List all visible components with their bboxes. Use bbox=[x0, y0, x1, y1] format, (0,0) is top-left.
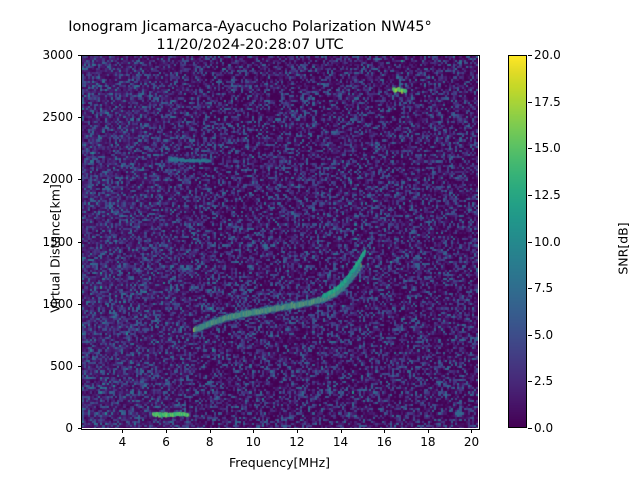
colorbar-tick-mark bbox=[528, 428, 532, 429]
colorbar-tick-label: 5.0 bbox=[534, 328, 553, 342]
colorbar-tick-label: 20.0 bbox=[534, 48, 561, 62]
y-tick-label: 3000 bbox=[0, 48, 73, 62]
x-tick-mark bbox=[166, 429, 167, 433]
x-tick-mark bbox=[297, 429, 298, 433]
x-tick-mark bbox=[471, 429, 472, 433]
colorbar-tick-label: 10.0 bbox=[534, 235, 561, 249]
x-tick-label: 16 bbox=[377, 435, 392, 449]
colorbar-tick-label: 15.0 bbox=[534, 141, 561, 155]
x-tick-label: 12 bbox=[289, 435, 304, 449]
x-tick-label: 4 bbox=[119, 435, 127, 449]
colorbar-tick-mark bbox=[528, 242, 532, 243]
colorbar-tick-label: 0.0 bbox=[534, 421, 553, 435]
ionogram-figure: Ionogram Jicamarca-Ayacucho Polarization… bbox=[0, 0, 640, 480]
y-tick-mark bbox=[78, 117, 82, 118]
colorbar-tick-label: 17.5 bbox=[534, 95, 561, 109]
figure-title: Ionogram Jicamarca-Ayacucho Polarization… bbox=[0, 18, 500, 54]
x-tick-label: 20 bbox=[464, 435, 479, 449]
x-tick-mark bbox=[428, 429, 429, 433]
title-line-2: 11/20/2024-20:28:07 UTC bbox=[156, 37, 343, 53]
colorbar-tick-mark bbox=[528, 148, 532, 149]
y-tick-mark bbox=[78, 179, 82, 180]
colorbar-tick-mark bbox=[528, 55, 532, 56]
y-tick-mark bbox=[78, 366, 82, 367]
x-tick-mark bbox=[210, 429, 211, 433]
y-axis-label: Virtual Distance[km] bbox=[48, 129, 63, 369]
colorbar-tick-mark bbox=[528, 102, 532, 103]
y-tick-mark bbox=[78, 428, 82, 429]
y-tick-label: 2500 bbox=[0, 110, 73, 124]
x-tick-label: 8 bbox=[206, 435, 214, 449]
title-line-1: Ionogram Jicamarca-Ayacucho Polarization… bbox=[68, 19, 432, 35]
x-tick-label: 10 bbox=[246, 435, 261, 449]
colorbar-tick-label: 2.5 bbox=[534, 374, 553, 388]
y-tick-label: 0 bbox=[0, 421, 73, 435]
colorbar-tick-mark bbox=[528, 195, 532, 196]
colorbar-tick-label: 7.5 bbox=[534, 281, 553, 295]
y-tick-mark bbox=[78, 242, 82, 243]
y-tick-mark bbox=[78, 304, 82, 305]
x-tick-label: 14 bbox=[333, 435, 348, 449]
x-tick-mark bbox=[384, 429, 385, 433]
x-tick-mark bbox=[122, 429, 123, 433]
echo-trace-layer bbox=[81, 55, 478, 428]
colorbar-tick-mark bbox=[528, 335, 532, 336]
colorbar-label: SNR[dB] bbox=[616, 129, 631, 369]
x-axis-label: Frequency[MHz] bbox=[81, 455, 478, 470]
colorbar bbox=[508, 55, 527, 428]
y-tick-mark bbox=[78, 55, 82, 56]
x-tick-mark bbox=[253, 429, 254, 433]
colorbar-tick-label: 12.5 bbox=[534, 188, 561, 202]
x-tick-label: 18 bbox=[420, 435, 435, 449]
x-tick-mark bbox=[341, 429, 342, 433]
plot-area[interactable] bbox=[81, 55, 478, 428]
colorbar-gradient bbox=[509, 56, 526, 427]
colorbar-tick-mark bbox=[528, 288, 532, 289]
colorbar-tick-mark bbox=[528, 381, 532, 382]
x-tick-label: 6 bbox=[162, 435, 170, 449]
